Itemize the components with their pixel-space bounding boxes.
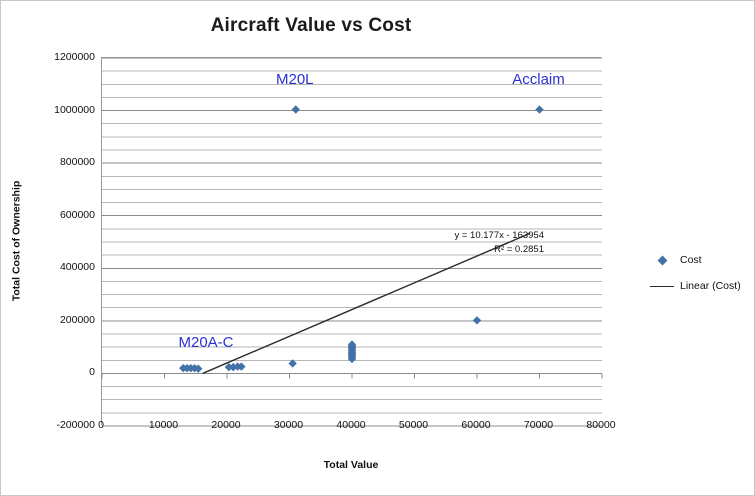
- point-annotation-label: M20A-C: [178, 334, 233, 351]
- x-axis-tick-label: 70000: [524, 419, 553, 431]
- y-axis-tick-label: -200000: [29, 419, 95, 431]
- legend-entry[interactable]: Linear (Cost): [649, 273, 749, 299]
- x-axis-tick-labels: 0100002000030000400005000060000700008000…: [101, 419, 601, 435]
- x-axis-tick-label: 10000: [149, 419, 178, 431]
- legend-entry[interactable]: Cost: [649, 247, 749, 273]
- data-point-marker[interactable]: [292, 105, 300, 113]
- x-axis-tick-label: 50000: [399, 419, 428, 431]
- legend-swatch-shape: [657, 255, 667, 265]
- y-axis-tick-label: 0: [29, 366, 95, 378]
- x-axis-title: Total Value: [101, 459, 601, 471]
- chart-container: Aircraft Value vs Cost Total Cost of Own…: [0, 0, 755, 496]
- y-axis-tick-label: 400000: [29, 261, 95, 273]
- y-axis-tick-label: 1000000: [29, 104, 95, 116]
- point-annotation-label: M20L: [276, 71, 314, 88]
- diamond-marker-icon: [649, 257, 675, 264]
- line-marker-icon: [649, 286, 675, 287]
- trendline-r-squared-text: R² = 0.2851: [399, 243, 544, 257]
- point-annotation-label: Acclaim: [512, 71, 565, 88]
- y-axis-tick-label: 1200000: [29, 51, 95, 63]
- x-axis-tick-label: 80000: [586, 419, 615, 431]
- legend-entry-label: Linear (Cost): [675, 280, 741, 292]
- x-axis-tick-label: 60000: [461, 419, 490, 431]
- chart-legend: CostLinear (Cost): [649, 247, 749, 299]
- trendline-equation-label: y = 10.177x - 163954 R² = 0.2851: [399, 229, 544, 257]
- x-axis-tick-label: 0: [98, 419, 104, 431]
- legend-swatch-shape: [650, 286, 674, 287]
- legend-entry-label: Cost: [675, 254, 702, 266]
- data-point-marker[interactable]: [473, 316, 481, 324]
- x-axis-tick-label: 20000: [211, 419, 240, 431]
- x-axis-tick-label: 40000: [336, 419, 365, 431]
- x-axis-tick-label: 30000: [274, 419, 303, 431]
- data-point-marker[interactable]: [535, 105, 543, 113]
- chart-title: Aircraft Value vs Cost: [1, 15, 621, 37]
- y-axis-tick-label: 800000: [29, 156, 95, 168]
- y-axis-tick-label: 600000: [29, 209, 95, 221]
- trendline-equation-text: y = 10.177x - 163954: [399, 229, 544, 243]
- y-axis-tick-label: 200000: [29, 314, 95, 326]
- y-axis-tick-labels: -200000020000040000060000080000010000001…: [21, 57, 95, 425]
